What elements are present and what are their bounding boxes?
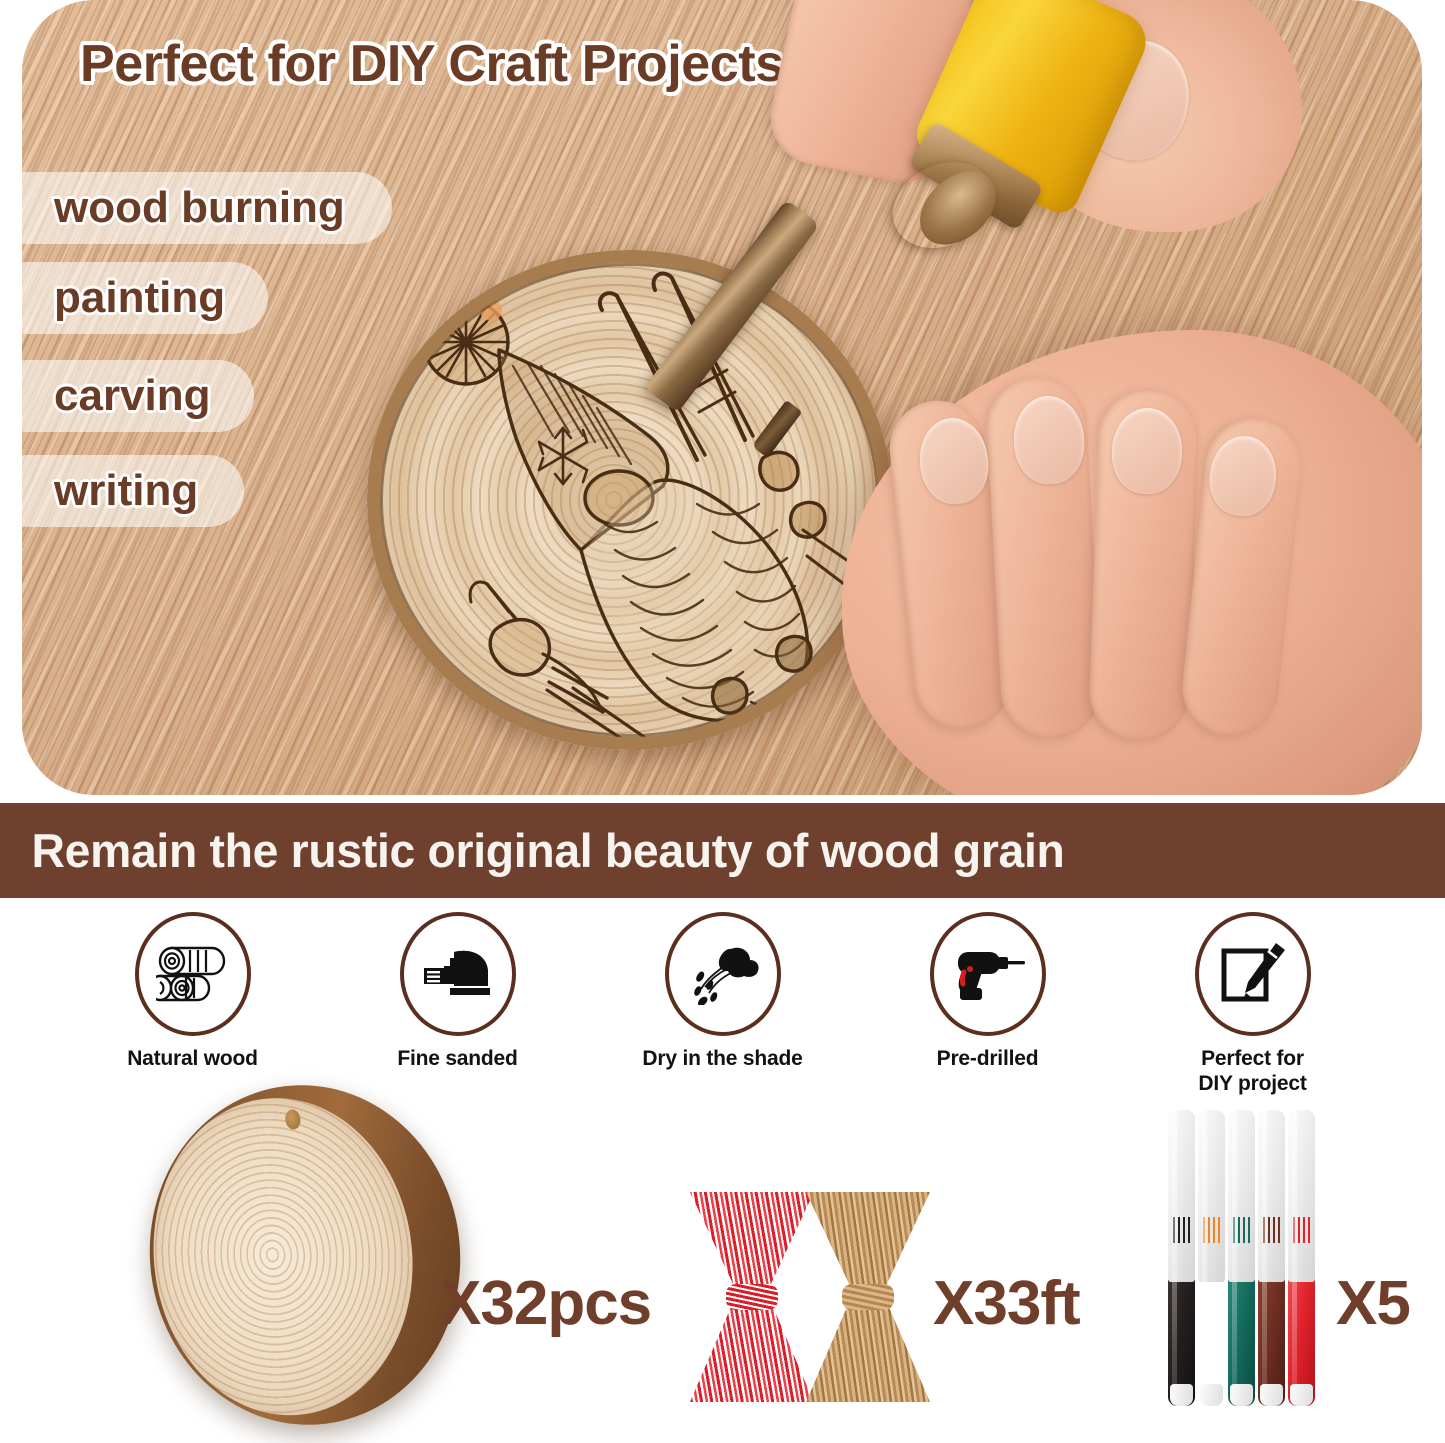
feature-perfect-for-diy: Perfect for DIY project: [1155, 912, 1351, 1096]
wood-slice-product: [130, 1067, 479, 1442]
marker-highlight: [1232, 1110, 1237, 1406]
power-drill-icon: [948, 944, 1028, 1004]
quantity-label-twine: X33ft: [933, 1268, 1080, 1339]
jute-twine-bundle: [806, 1192, 930, 1402]
banner-text: Remain the rustic original beauty of woo…: [0, 823, 1065, 878]
stacked-logs-icon: [156, 944, 230, 1004]
hero-photo-panel: Perfect for DIY Craft Projects wood burn…: [22, 0, 1422, 795]
black-marker: [1168, 1110, 1195, 1406]
marker-pens-product: [1168, 1110, 1320, 1406]
red-white-twine-bundle: [690, 1192, 814, 1402]
page-title: Perfect for DIY Craft Projects: [80, 34, 784, 94]
feature-icon-circle: [1195, 912, 1311, 1036]
marker-highlight: [1292, 1110, 1297, 1406]
feature-dry-in-shade: Dry in the shade: [625, 912, 821, 1071]
marker-highlight: [1262, 1110, 1267, 1406]
feature-label: Dry in the shade: [642, 1046, 802, 1071]
use-case-label: wood burning: [54, 183, 345, 233]
marker-highlight: [1172, 1110, 1177, 1406]
teal-marker: [1228, 1110, 1255, 1406]
marker-highlight: [1202, 1110, 1207, 1406]
feature-label: Fine sanded: [397, 1046, 517, 1071]
feature-natural-wood: Natural wood: [95, 912, 291, 1071]
feature-fine-sanded: Fine sanded: [360, 912, 556, 1071]
quantity-label-wood-slices: X32pcs: [440, 1268, 651, 1339]
belt-sander-icon: [420, 946, 496, 1002]
banner: Remain the rustic original beauty of woo…: [0, 803, 1445, 898]
feature-label-line-1: Perfect for: [1201, 1047, 1304, 1070]
quantity-label-markers: X5: [1336, 1268, 1410, 1339]
use-case-pill-painting: painting: [22, 262, 268, 334]
twine-tie: [726, 1284, 778, 1310]
use-case-label: writing: [54, 466, 198, 516]
feature-label: Pre-drilled: [937, 1046, 1039, 1071]
twine-tie: [842, 1284, 894, 1310]
feature-icon-circle: [930, 912, 1046, 1036]
engraved-wood-slice: [367, 250, 892, 750]
use-case-pill-wood-burning: wood burning: [22, 172, 392, 244]
pen-and-paper-icon: [1218, 941, 1288, 1007]
gnome-pyrography-design: [367, 250, 892, 750]
feature-icon-circle: [400, 912, 516, 1036]
feature-icon-circle: [665, 912, 781, 1036]
cloud-with-rain-icon: [685, 943, 761, 1005]
use-case-pill-carving: carving: [22, 360, 254, 432]
brown-marker: [1258, 1110, 1285, 1406]
feature-icon-circle: [135, 912, 251, 1036]
feature-pre-drilled: Pre-drilled: [890, 912, 1086, 1071]
use-case-label: painting: [54, 273, 225, 323]
feature-label: Natural wood: [127, 1046, 258, 1071]
red-marker: [1288, 1110, 1315, 1406]
orange-marker: [1198, 1110, 1225, 1406]
feature-list: Natural wood Fine sanded: [0, 912, 1445, 1107]
use-case-label: carving: [54, 371, 211, 421]
use-case-pill-writing: writing: [22, 455, 244, 527]
fingernail: [1111, 407, 1184, 495]
product-showcase: [0, 1080, 1445, 1431]
